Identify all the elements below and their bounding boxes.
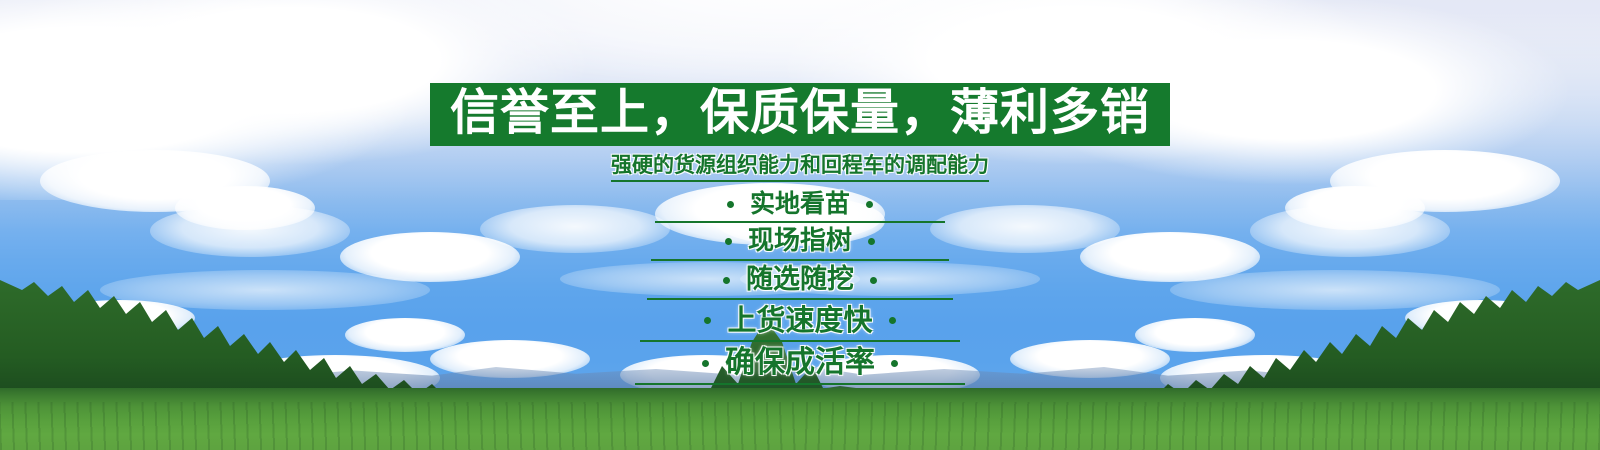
feature-label: 随选随挖 [746, 265, 854, 295]
bullet-dot-icon [870, 277, 877, 284]
headline-banner: 信誉至上，保质保量，薄利多销 [430, 83, 1170, 146]
feature-item: 随选随挖 [647, 264, 953, 300]
bullet-dot-icon [866, 201, 873, 208]
feature-item: 现场指树 [651, 226, 949, 261]
bullet-dot-icon [702, 360, 709, 367]
feature-label: 现场指树 [748, 227, 852, 256]
subtitle-text: 强硬的货源组织能力和回程车的调配能力 [611, 153, 989, 182]
feature-label: 实地看苗 [750, 190, 850, 218]
feature-label: 上货速度快 [727, 304, 872, 337]
bullet-dot-icon [891, 360, 898, 367]
headline-text: 信誉至上，保质保量，薄利多销 [450, 88, 1150, 137]
bullet-dot-icon [704, 317, 711, 324]
bullet-dot-icon [868, 238, 875, 245]
feature-label: 确保成活率 [725, 346, 875, 380]
feature-item: 实地看苗 [655, 189, 945, 223]
bullet-dot-icon [727, 201, 734, 208]
bullet-dot-icon [889, 317, 896, 324]
bullet-dot-icon [723, 277, 730, 284]
feature-list: 实地看苗 现场指树 随选随挖 上货速度快 确保成活率 [635, 189, 965, 388]
hero-banner: 信誉至上，保质保量，薄利多销 强硬的货源组织能力和回程车的调配能力 实地看苗 现… [0, 0, 1600, 450]
feature-item: 上货速度快 [640, 303, 960, 342]
feature-item: 确保成活率 [635, 345, 965, 385]
bullet-dot-icon [725, 238, 732, 245]
banner-content: 信誉至上，保质保量，薄利多销 强硬的货源组织能力和回程车的调配能力 实地看苗 现… [0, 0, 1600, 450]
